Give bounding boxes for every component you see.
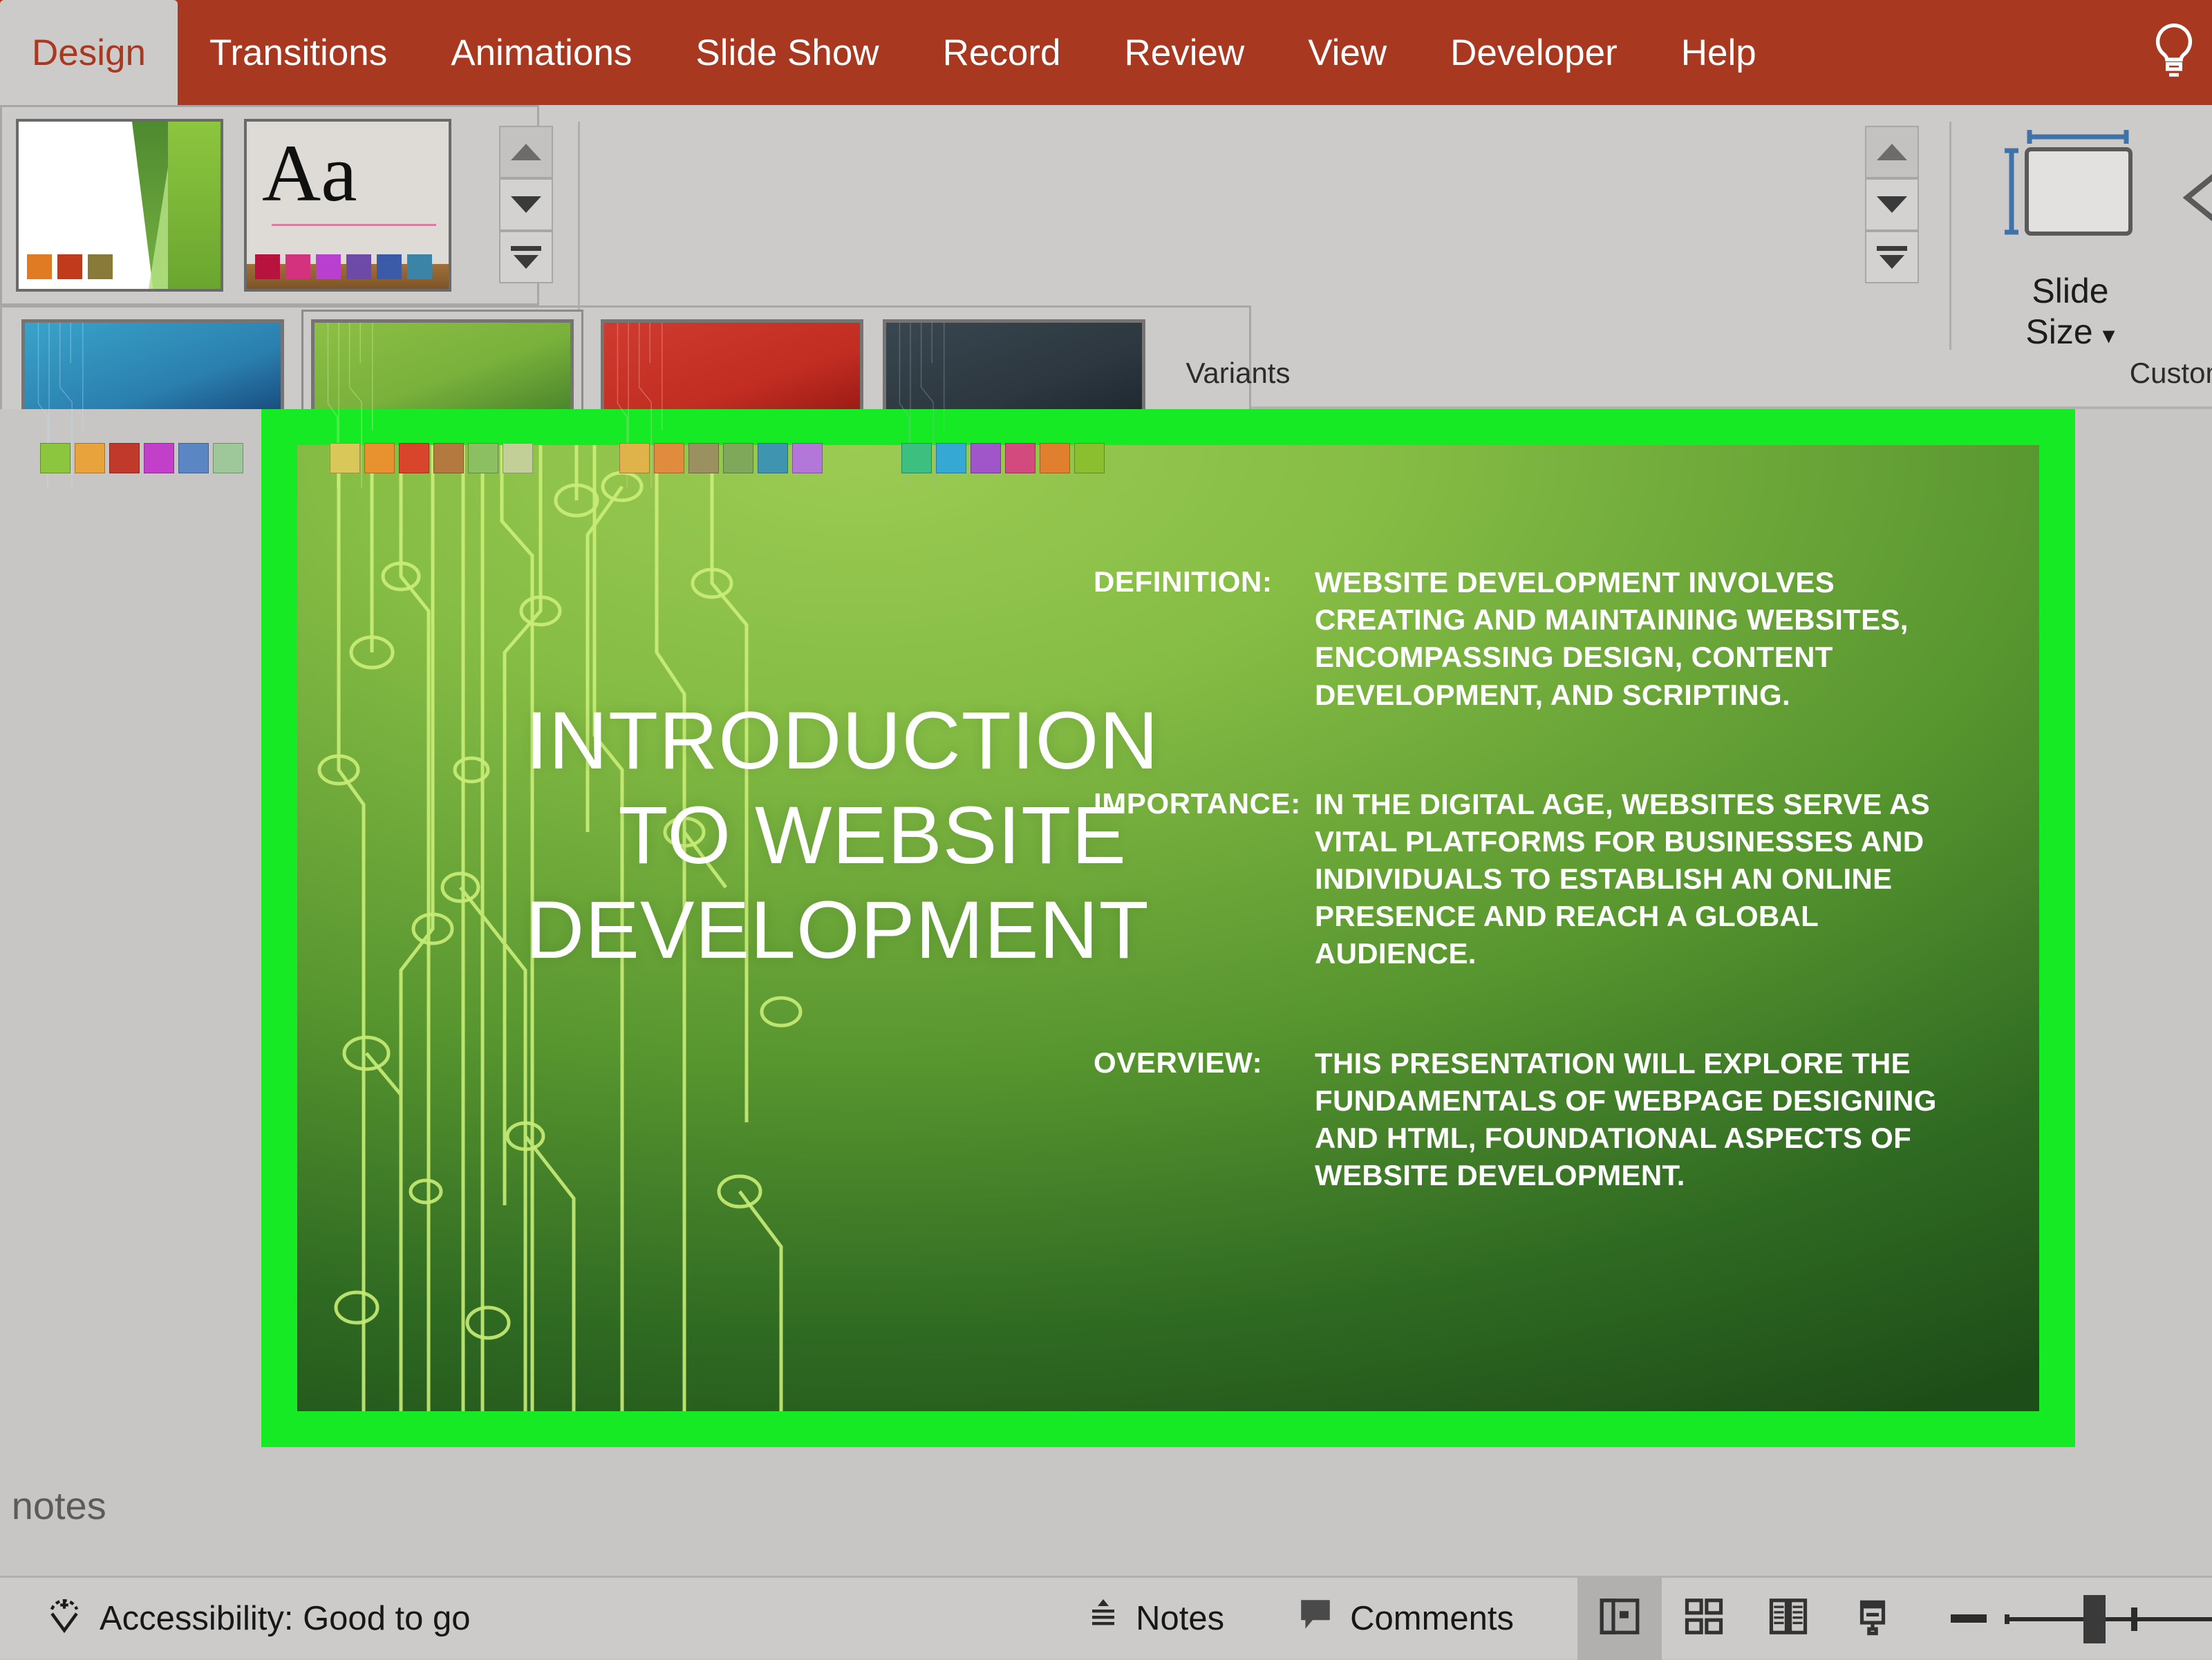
- slide-show-view-button[interactable]: [1830, 1577, 1915, 1660]
- tab-animations[interactable]: Animations: [419, 0, 664, 105]
- variant-blue-swatches: [40, 443, 243, 473]
- slide-block-definition: DEFINITION: WEBSITE DEVELOPMENT INVOLVES…: [1094, 564, 1958, 714]
- notes-placeholder[interactable]: d notes: [0, 1483, 106, 1528]
- themes-more-button[interactable]: [499, 231, 553, 283]
- tab-record[interactable]: Record: [911, 0, 1093, 105]
- variant-red-swatches: [619, 443, 823, 473]
- more-themes-icon: [511, 246, 541, 269]
- scroll-up-arrow-icon: [511, 144, 541, 160]
- scroll-down-arrow-icon: [511, 196, 541, 213]
- lightbulb-icon[interactable]: [2136, 0, 2212, 105]
- scroll-up-arrow-icon: [1877, 144, 1907, 160]
- tab-slide-show-label: Slide Show: [695, 32, 879, 74]
- themes-scroll-up-button[interactable]: [499, 126, 553, 178]
- variant-dark-swatches: [901, 443, 1105, 473]
- tab-review[interactable]: Review: [1092, 0, 1276, 105]
- variants-more-button[interactable]: [1865, 231, 1919, 283]
- tab-slide-show[interactable]: Slide Show: [664, 0, 910, 105]
- variants-scroll-buttons[interactable]: [1865, 126, 1919, 283]
- notes-pane[interactable]: d notes: [0, 1450, 2212, 1576]
- slide-selection-frame[interactable]: INTRODUCTION TO WEBSITE DEVELOPMENT DEFI…: [261, 409, 2075, 1447]
- ribbon-tab-bar: Design Transitions Animations Slide Show…: [0, 0, 2212, 105]
- theme-green-ribbon[interactable]: [16, 119, 223, 292]
- zoom-slider-thumb[interactable]: [2083, 1595, 2106, 1643]
- scroll-down-arrow-icon: [1877, 196, 1907, 213]
- slide-size-button[interactable]: Slide Size ▾: [1984, 124, 2157, 352]
- ribbon-content: Aa: [0, 105, 2212, 409]
- customize-group-label: Customize: [1984, 357, 2212, 390]
- normal-view-button[interactable]: [1577, 1577, 1662, 1660]
- theme-wood-aa-swatches: [255, 254, 432, 279]
- slide-canvas[interactable]: INTRODUCTION TO WEBSITE DEVELOPMENT DEFI…: [297, 445, 2039, 1411]
- slide-title[interactable]: INTRODUCTION TO WEBSITE DEVELOPMENT: [525, 694, 1127, 978]
- slide-sorter-icon: [1683, 1595, 1725, 1641]
- tab-record-label: Record: [943, 32, 1061, 74]
- format-background-icon: [2164, 124, 2212, 271]
- notes-button-label: Notes: [1136, 1599, 1224, 1638]
- variant-green[interactable]: [311, 319, 574, 492]
- status-bar: Accessibility: Good to go Notes Comments: [0, 1576, 2212, 1659]
- tab-view[interactable]: View: [1276, 0, 1418, 105]
- tab-animations-label: Animations: [451, 32, 632, 74]
- format-background-label-line2: Bac: [2164, 312, 2212, 352]
- zoom-controls[interactable]: [1951, 1614, 2212, 1623]
- tab-view-label: View: [1308, 32, 1387, 74]
- variant-blue[interactable]: [21, 319, 284, 492]
- themes-gallery[interactable]: Aa: [0, 105, 539, 305]
- themes-scroll-buttons[interactable]: [499, 126, 553, 283]
- slide-body-placeholder[interactable]: DEFINITION: WEBSITE DEVELOPMENT INVOLVES…: [1094, 564, 1958, 1194]
- slide-block-overview: OVERVIEW: THIS PRESENTATION WILL EXPLORE…: [1094, 1045, 1958, 1195]
- slide-block-importance: IMPORTANCE: IN THE DIGITAL AGE, WEBSITES…: [1094, 786, 1958, 973]
- block-body-importance: IN THE DIGITAL AGE, WEBSITES SERVE AS VI…: [1315, 786, 1958, 973]
- comments-button-label: Comments: [1350, 1599, 1514, 1638]
- slide-size-icon: [1984, 124, 2157, 271]
- block-label-overview: OVERVIEW:: [1094, 1045, 1315, 1195]
- tab-design[interactable]: Design: [0, 0, 178, 105]
- comments-button[interactable]: Comments: [1274, 1577, 1536, 1660]
- more-variants-icon: [1877, 246, 1907, 269]
- block-label-definition: DEFINITION:: [1094, 564, 1315, 714]
- reading-view-button[interactable]: [1746, 1577, 1830, 1660]
- slide-size-label-line2: Size ▾: [1984, 312, 2157, 352]
- reading-view-icon: [1767, 1595, 1810, 1641]
- zoom-slider[interactable]: [2005, 1614, 2212, 1623]
- variants-scroll-down-button[interactable]: [1865, 178, 1919, 231]
- tab-help-label: Help: [1681, 32, 1756, 74]
- variant-blue-wrap[interactable]: [21, 319, 284, 492]
- notes-icon: [1086, 1596, 1121, 1641]
- slide-sorter-view-button[interactable]: [1662, 1577, 1746, 1660]
- variant-green-wrap[interactable]: [303, 312, 581, 500]
- block-label-importance: IMPORTANCE:: [1094, 786, 1315, 973]
- group-divider-2: [1949, 122, 1951, 350]
- tab-design-label: Design: [32, 32, 146, 74]
- zoom-out-icon[interactable]: [1951, 1614, 1987, 1623]
- notes-button[interactable]: Notes: [1064, 1577, 1246, 1660]
- zoom-slider-100-tick: [2131, 1607, 2137, 1631]
- block-body-overview: THIS PRESENTATION WILL EXPLORE THE FUNDA…: [1315, 1045, 1958, 1195]
- variant-red[interactable]: [601, 319, 863, 492]
- chevron-down-icon: ▾: [2103, 321, 2115, 349]
- variant-red-wrap[interactable]: [601, 319, 863, 492]
- powerpoint-window: Design Transitions Animations Slide Show…: [0, 0, 2212, 1659]
- block-body-definition: WEBSITE DEVELOPMENT INVOLVES CREATING AN…: [1315, 564, 1958, 714]
- zoom-slider-min-cap: [2005, 1614, 2009, 1624]
- slide-show-icon: [1851, 1595, 1894, 1641]
- themes-scroll-down-button[interactable]: [499, 178, 553, 231]
- variant-dark-wrap[interactable]: [883, 319, 1145, 492]
- slide-size-label-line1: Slide: [1984, 271, 2157, 312]
- slide-editing-area: INTRODUCTION TO WEBSITE DEVELOPMENT DEFI…: [0, 409, 2212, 1450]
- accessibility-icon: [44, 1594, 84, 1643]
- normal-view-icon: [1598, 1595, 1641, 1641]
- format-background-label-line1: Fo: [2164, 271, 2212, 312]
- tab-review-label: Review: [1124, 32, 1244, 74]
- tab-developer[interactable]: Developer: [1418, 0, 1649, 105]
- tab-developer-label: Developer: [1450, 32, 1618, 74]
- comment-bubble-icon: [1296, 1596, 1335, 1641]
- accessibility-status-text: Accessibility: Good to go: [100, 1599, 471, 1638]
- tab-help[interactable]: Help: [1649, 0, 1788, 105]
- variants-scroll-up-button[interactable]: [1865, 126, 1919, 178]
- format-background-button[interactable]: Fo Bac: [2164, 124, 2212, 352]
- accessibility-status[interactable]: Accessibility: Good to go: [0, 1577, 493, 1660]
- variant-green-swatches: [330, 443, 533, 473]
- zoom-slider-track: [2005, 1617, 2212, 1621]
- variants-gallery[interactable]: [0, 305, 1251, 506]
- tab-transitions-label: Transitions: [209, 32, 387, 74]
- tab-transitions[interactable]: Transitions: [178, 0, 419, 105]
- theme-wood-aa[interactable]: Aa: [244, 119, 451, 292]
- theme-green-ribbon-swatches: [27, 254, 113, 279]
- theme-sample-text: Aa: [262, 133, 357, 214]
- variant-dark[interactable]: [883, 319, 1145, 492]
